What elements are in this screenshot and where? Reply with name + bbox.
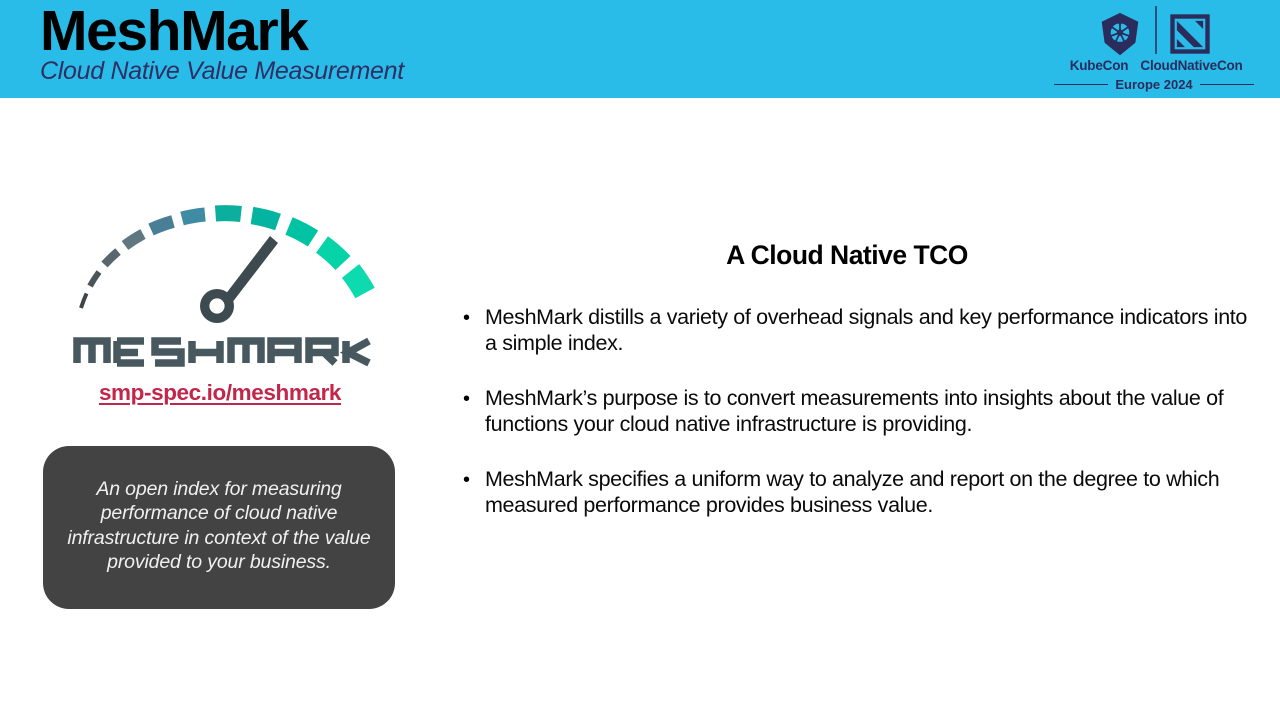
kubecon-label: KubeCon — [1062, 58, 1137, 73]
page-subtitle: Cloud Native Value Measurement — [40, 57, 404, 85]
list-item: • MeshMark’s purpose is to convert measu… — [452, 386, 1257, 437]
bullet-marker-icon: • — [452, 305, 485, 331]
conference-logo-marks — [1054, 6, 1254, 56]
bullet-marker-icon: • — [452, 386, 485, 412]
conference-edition: Europe 2024 — [1115, 77, 1192, 92]
conference-logo-lockup: KubeCon CloudNativeCon Europe 2024 — [1054, 6, 1254, 92]
list-item-text: MeshMark distills a variety of overhead … — [485, 305, 1257, 356]
meshmark-logo-panel — [68, 158, 378, 373]
cloudnativecon-square-icon — [1170, 14, 1210, 54]
list-item-text: MeshMark’s purpose is to convert measure… — [485, 386, 1257, 437]
product-url-link[interactable]: smp-spec.io/meshmark — [44, 380, 396, 406]
definition-callout-text: An open index for measuring performance … — [61, 477, 377, 575]
brand-block: MeshMark Cloud Native Value Measurement — [40, 2, 404, 85]
meshmark-gauge-logo — [68, 158, 378, 373]
kubernetes-helm-icon — [1098, 12, 1142, 56]
rule-right — [1200, 84, 1254, 86]
definition-callout: An open index for measuring performance … — [43, 446, 395, 609]
bullet-marker-icon: • — [452, 467, 485, 493]
list-item: • MeshMark specifies a uniform way to an… — [452, 467, 1257, 518]
cloudnativecon-label: CloudNativeCon — [1137, 58, 1247, 73]
kubecon-mark — [1098, 12, 1142, 56]
section-heading: A Cloud Native TCO — [452, 240, 1242, 271]
list-item-text: MeshMark specifies a uniform way to anal… — [485, 467, 1257, 518]
header-banner: MeshMark Cloud Native Value Measurement — [0, 0, 1280, 98]
bullet-list: • MeshMark distills a variety of overhea… — [452, 305, 1257, 518]
list-item: • MeshMark distills a variety of overhea… — [452, 305, 1257, 356]
logo-divider — [1155, 6, 1157, 54]
page-title: MeshMark — [40, 2, 404, 60]
conference-edition-row: Europe 2024 — [1054, 77, 1254, 92]
rule-left — [1054, 84, 1108, 86]
cloudnativecon-mark — [1170, 14, 1210, 56]
conference-names: KubeCon CloudNativeCon — [1054, 58, 1254, 73]
